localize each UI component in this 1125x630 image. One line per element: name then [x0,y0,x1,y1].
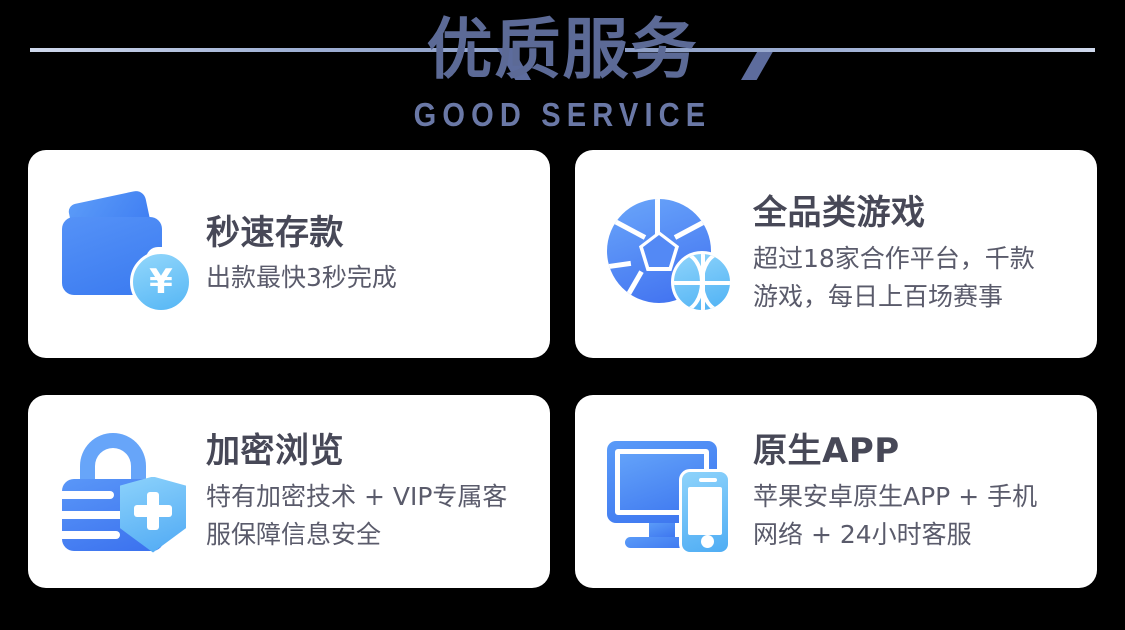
feature-card-text: 秒速存款 出款最快3秒完成 [206,212,528,296]
card-description-line: 服保障信息安全 [206,516,528,554]
banner-header: 优质服务 GOOD SERVICE [0,0,1125,145]
feature-card-text: 原生APP 苹果安卓原生APP + 手机 网络 + 24小时客服 [753,430,1075,554]
good-service-banner: 优质服务 GOOD SERVICE ¥ 秒速存款 出款最快3秒完成 [0,0,1125,630]
lock-slot-icon [62,491,114,499]
basketball-icon [671,251,733,313]
feature-card-text: 加密浏览 特有加密技术 + VIP专属客 服保障信息安全 [206,430,528,554]
card-description-line: 特有加密技术 + VIP专属客 [206,478,528,516]
card-description-line: 超过18家合作平台，千款 [753,240,1075,278]
card-description: 特有加密技术 + VIP专属客 服保障信息安全 [206,478,528,554]
card-description-line: 苹果安卓原生APP + 手机 [753,478,1075,516]
soccer-seam-icon [614,219,646,239]
soccer-seam-icon [607,261,631,270]
phone-home-button-icon [701,535,714,548]
page-subtitle: GOOD SERVICE [68,96,1058,134]
soccer-seam-icon [655,199,660,235]
card-description: 出款最快3秒完成 [206,260,528,296]
lock-shield-icon [58,427,188,557]
feature-card-grid: ¥ 秒速存款 出款最快3秒完成 [28,150,1097,588]
card-description-line: 游戏，每日上百场赛事 [753,278,1075,316]
page-title: 优质服务 [0,8,1125,92]
soccer-seam-icon [674,219,706,239]
phone-speaker-icon [699,478,717,482]
monitor-phone-icon [605,427,735,557]
soccer-basketball-icon [605,189,735,319]
wallet-icon: ¥ [58,189,188,319]
yuan-coin-icon: ¥ [130,251,192,313]
card-description-line: 网络 + 24小时客服 [753,516,1075,554]
card-title: 加密浏览 [206,430,528,472]
card-title: 全品类游戏 [753,192,1075,234]
card-title: 秒速存款 [206,212,528,254]
feature-card-native-app[interactable]: 原生APP 苹果安卓原生APP + 手机 网络 + 24小时客服 [575,395,1097,588]
feature-card-all-games[interactable]: 全品类游戏 超过18家合作平台，千款 游戏，每日上百场赛事 [575,150,1097,358]
feature-card-text: 全品类游戏 超过18家合作平台，千款 游戏，每日上百场赛事 [753,192,1075,316]
feature-card-encrypted-browsing[interactable]: 加密浏览 特有加密技术 + VIP专属客 服保障信息安全 [28,395,550,588]
phone-screen-icon [688,487,722,535]
shield-plus-icon [147,492,159,530]
feature-card-instant-deposit[interactable]: ¥ 秒速存款 出款最快3秒完成 [28,150,550,358]
card-description: 超过18家合作平台，千款 游戏，每日上百场赛事 [753,240,1075,316]
card-title: 原生APP [753,430,1075,472]
soccer-seam-icon [619,270,643,303]
smartphone-icon [679,469,731,555]
card-description: 苹果安卓原生APP + 手机 网络 + 24小时客服 [753,478,1075,554]
lock-slot-icon [62,531,120,539]
